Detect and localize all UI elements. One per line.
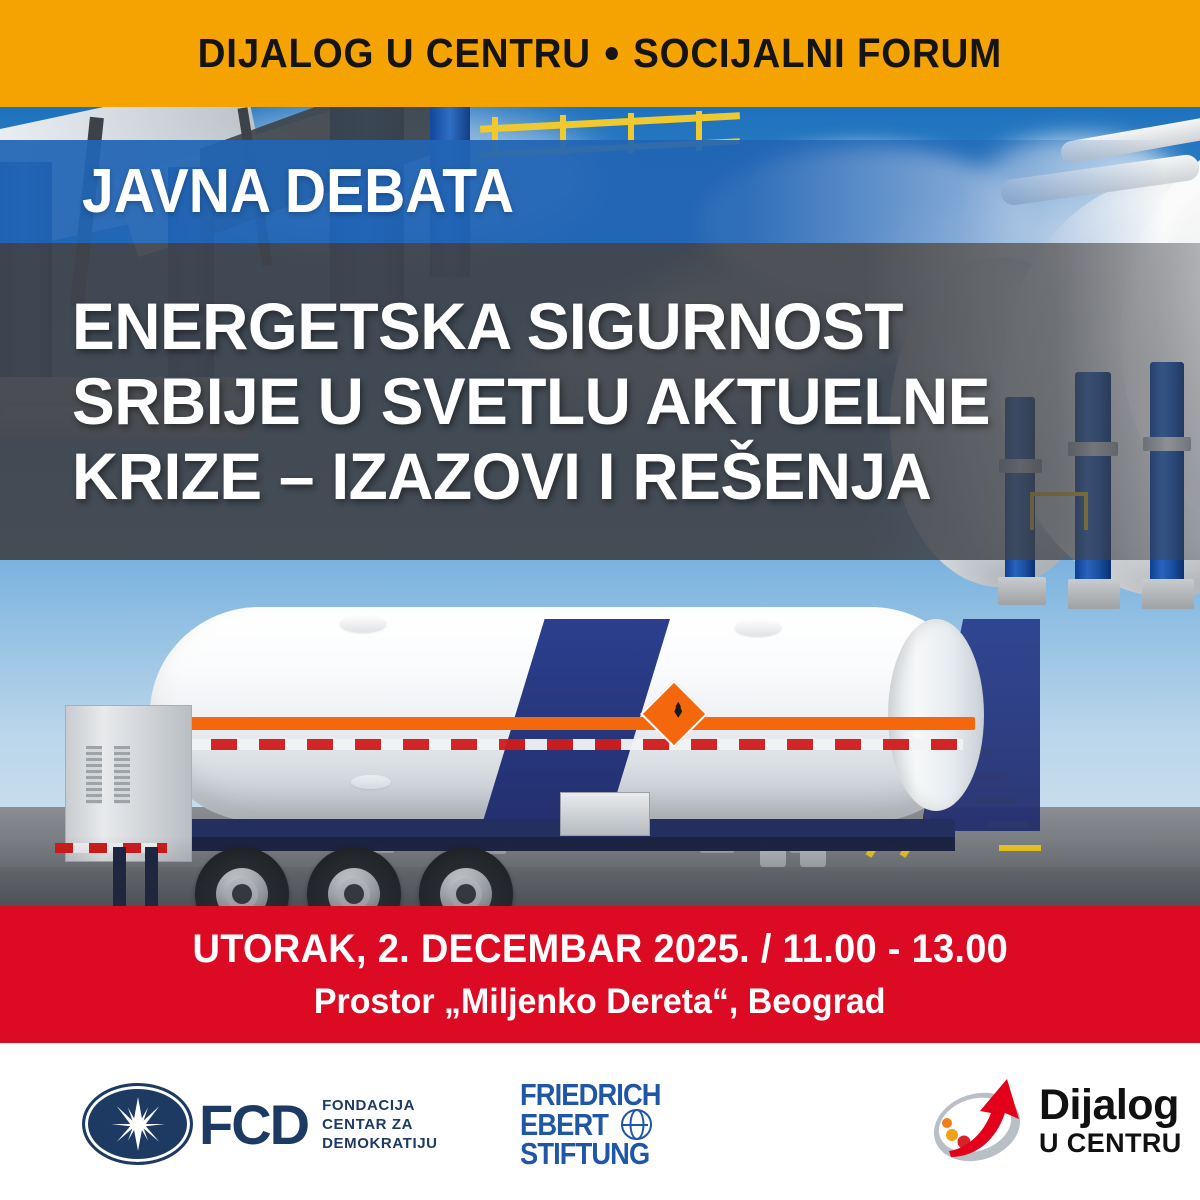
event-datetime: UTORAK, 2. DECEMBAR 2025. / 11.00 - 13.0…	[192, 927, 1008, 972]
title-band: ENERGETSKA SIGURNOST SRBIJE U SVETLU AKT…	[0, 243, 1200, 560]
toolbox	[560, 792, 650, 836]
logo-fcd[interactable]: FCD FONDACIJA CENTAR ZA DEMOKRATIJU	[82, 1083, 438, 1165]
fcd-subtitle-line-2: CENTAR ZA	[322, 1115, 438, 1134]
tank-end-cap	[888, 619, 984, 811]
dijalog-name: Dijalog	[1039, 1084, 1182, 1126]
orange-hazard-stripe	[155, 717, 975, 730]
logo-dijalog-u-centru[interactable]: Dijalog U CENTRU	[925, 1075, 1182, 1167]
fes-line-2: EBERT	[520, 1111, 608, 1139]
title-line-3: KRIZE – IZAZOVI I REŠENJA	[72, 439, 1166, 514]
tank-fitting	[351, 775, 391, 789]
fcd-subtitle-line-3: DEMOKRATIJU	[322, 1134, 438, 1153]
footer-logo-bar: FCD FONDACIJA CENTAR ZA DEMOKRATIJU FRIE…	[0, 1043, 1200, 1200]
dijalog-wordmark: Dijalog U CENTRU	[1039, 1084, 1182, 1159]
column-footing	[1068, 579, 1120, 609]
logo-fes[interactable]: FRIEDRICH EBERT STIFTUNG	[520, 1081, 680, 1168]
bullet-separator-icon	[606, 47, 618, 60]
event-details-band: UTORAK, 2. DECEMBAR 2025. / 11.00 - 13.0…	[0, 906, 1200, 1043]
title-line-1: ENERGETSKA SIGURNOST	[72, 289, 1166, 364]
tank-manhole	[735, 619, 781, 636]
fes-line-3: STIFTUNG	[520, 1140, 661, 1168]
compass-star-icon	[82, 1083, 193, 1165]
arrow-swoosh-icon	[925, 1075, 1033, 1167]
event-poster: DIJALOG U CENTRUSOCIJALNI FORUM JAVNA DE…	[0, 0, 1200, 1200]
event-venue: Prostor „Miljenko Dereta“, Beograd	[314, 982, 886, 1022]
column-footing	[998, 577, 1046, 605]
kicker-band: JAVNA DEBATA	[0, 140, 1200, 243]
fcd-acronym: FCD	[199, 1092, 308, 1157]
top-brand-left: DIJALOG U CENTRU	[198, 30, 591, 76]
tank-manhole	[340, 615, 386, 632]
top-brand-bar: DIJALOG U CENTRUSOCIJALNI FORUM	[0, 0, 1200, 107]
reflective-tape	[163, 739, 963, 750]
top-brand-text: DIJALOG U CENTRUSOCIJALNI FORUM	[198, 30, 1002, 77]
top-brand-right: SOCIJALNI FORUM	[633, 30, 1002, 76]
fes-line-1: FRIEDRICH	[520, 1081, 661, 1109]
tank-barrel	[150, 607, 980, 822]
title-line-2: SRBIJE U SVETLU AKTUELNE	[72, 364, 1166, 439]
photo-vignette	[0, 836, 1200, 906]
fcd-subtitle-line-1: FONDACIJA	[322, 1096, 438, 1115]
column-footing	[1142, 579, 1194, 609]
kicker-label: JAVNA DEBATA	[82, 156, 514, 227]
dijalog-tagline: U CENTRU	[1039, 1128, 1182, 1159]
fcd-subtitle: FONDACIJA CENTAR ZA DEMOKRATIJU	[322, 1096, 438, 1153]
